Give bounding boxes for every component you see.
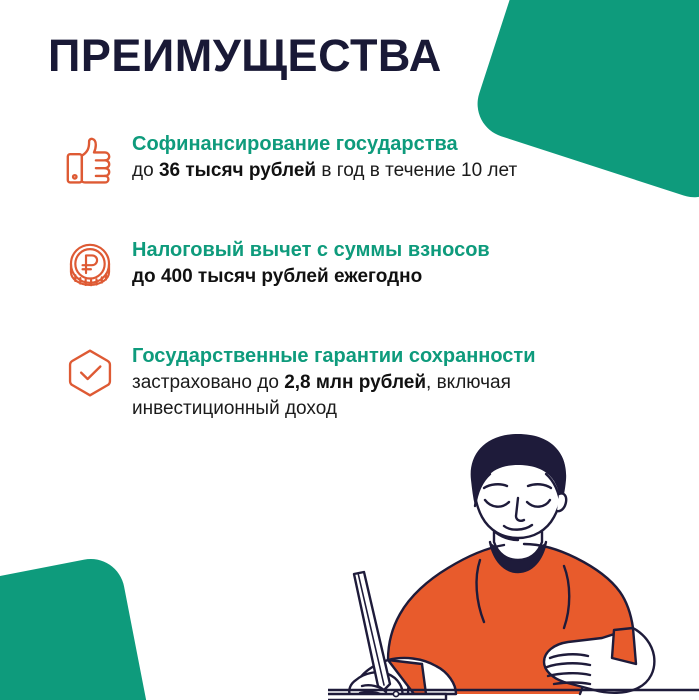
benefit-text-block: Налоговый вычет с суммы взносов до 400 т… bbox=[132, 234, 648, 290]
infographic-poster: ПРЕИМУЩЕСТВА Софинансирование государств… bbox=[0, 0, 699, 700]
benefits-list: Софинансирование государства до 36 тысяч… bbox=[48, 128, 648, 463]
benefit-heading: Государственные гарантии сохранности bbox=[132, 344, 648, 368]
benefit-item-tax-deduction: Налоговый вычет с суммы взносов до 400 т… bbox=[48, 234, 648, 298]
thumbs-up-icon bbox=[48, 128, 132, 192]
benefit-subtext-part: застраховано до bbox=[132, 372, 284, 393]
man-writing-at-desk-illustration bbox=[328, 432, 699, 700]
benefit-subtext: застраховано до 2,8 млн рублей, включая … bbox=[132, 370, 648, 421]
benefit-subtext-highlight: 36 тысяч рублей bbox=[159, 160, 316, 181]
benefit-heading: Налоговый вычет с суммы взносов bbox=[132, 238, 648, 262]
hexagon-check-icon bbox=[48, 340, 132, 404]
benefit-item-state-guarantee: Государственные гарантии сохранности зас… bbox=[48, 340, 648, 421]
benefit-subtext-highlight: 2,8 млн рублей bbox=[284, 372, 426, 393]
benefit-heading: Софинансирование государства bbox=[132, 132, 648, 156]
green-shape-bottom-left-decoration bbox=[0, 553, 158, 700]
page-title: ПРЕИМУЩЕСТВА bbox=[48, 32, 442, 79]
benefit-subtext: до 36 тысяч рублей в год в течение 10 ле… bbox=[132, 158, 648, 183]
benefit-subtext-highlight: до 400 тысяч рублей ежегодно bbox=[132, 266, 422, 287]
benefit-text-block: Государственные гарантии сохранности зас… bbox=[132, 340, 648, 421]
benefit-subtext: до 400 тысяч рублей ежегодно bbox=[132, 264, 648, 289]
benefit-text-block: Софинансирование государства до 36 тысяч… bbox=[132, 128, 648, 184]
benefit-subtext-part: до bbox=[132, 160, 159, 181]
ruble-coin-icon bbox=[48, 234, 132, 298]
benefit-subtext-part: в год в течение 10 лет bbox=[316, 160, 517, 181]
benefit-item-cofinancing: Софинансирование государства до 36 тысяч… bbox=[48, 128, 648, 192]
